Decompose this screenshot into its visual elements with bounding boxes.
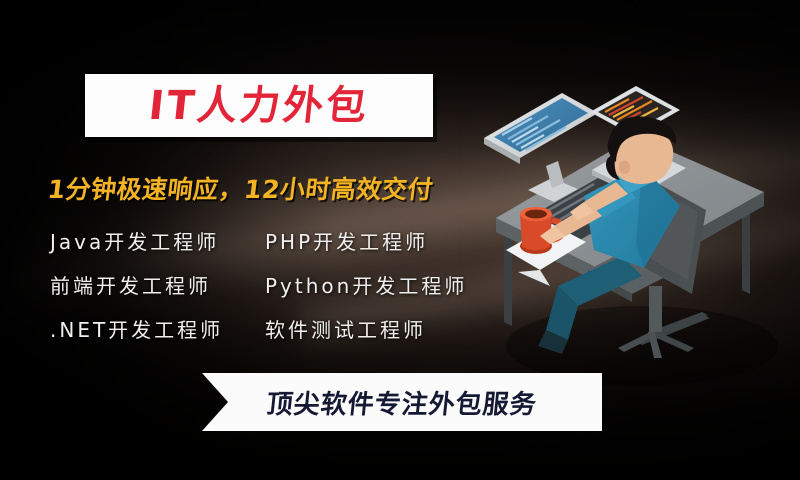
service-row: .NET开发工程师 软件测试工程师 [50,306,500,350]
promotional-banner: IT人力外包 1分钟极速响应，12小时高效交付 Java开发工程师 PHP开发工… [0,0,800,480]
desk-leg-left [504,224,512,326]
service-item: PHP开发工程师 [265,226,428,255]
service-item: .NET开发工程师 [50,314,265,343]
service-item: Java开发工程师 [50,226,265,255]
service-row: 前端开发工程师 Python开发工程师 [50,262,500,306]
bottom-ribbon-shape: 顶尖软件专注外包服务 [202,373,602,431]
ribbon-slogan: 顶尖软件专注外包服务 [265,384,539,421]
title-banner: IT人力外包 [85,74,433,137]
bottom-ribbon: 顶尖软件专注外包服务 [202,373,602,431]
developer-at-desk-illustration [466,58,800,388]
service-item: 前端开发工程师 [50,270,265,299]
ear [619,161,630,174]
service-list: Java开发工程师 PHP开发工程师 前端开发工程师 Python开发工程师 .… [50,218,500,350]
service-item: Python开发工程师 [265,270,467,299]
service-row: Java开发工程师 PHP开发工程师 [50,218,500,262]
service-item: 软件测试工程师 [265,314,426,343]
subtitle-tagline: 1分钟极速响应，12小时高效交付 [46,170,520,206]
chair-column [649,286,662,332]
page-title: IT人力外包 [147,86,371,126]
